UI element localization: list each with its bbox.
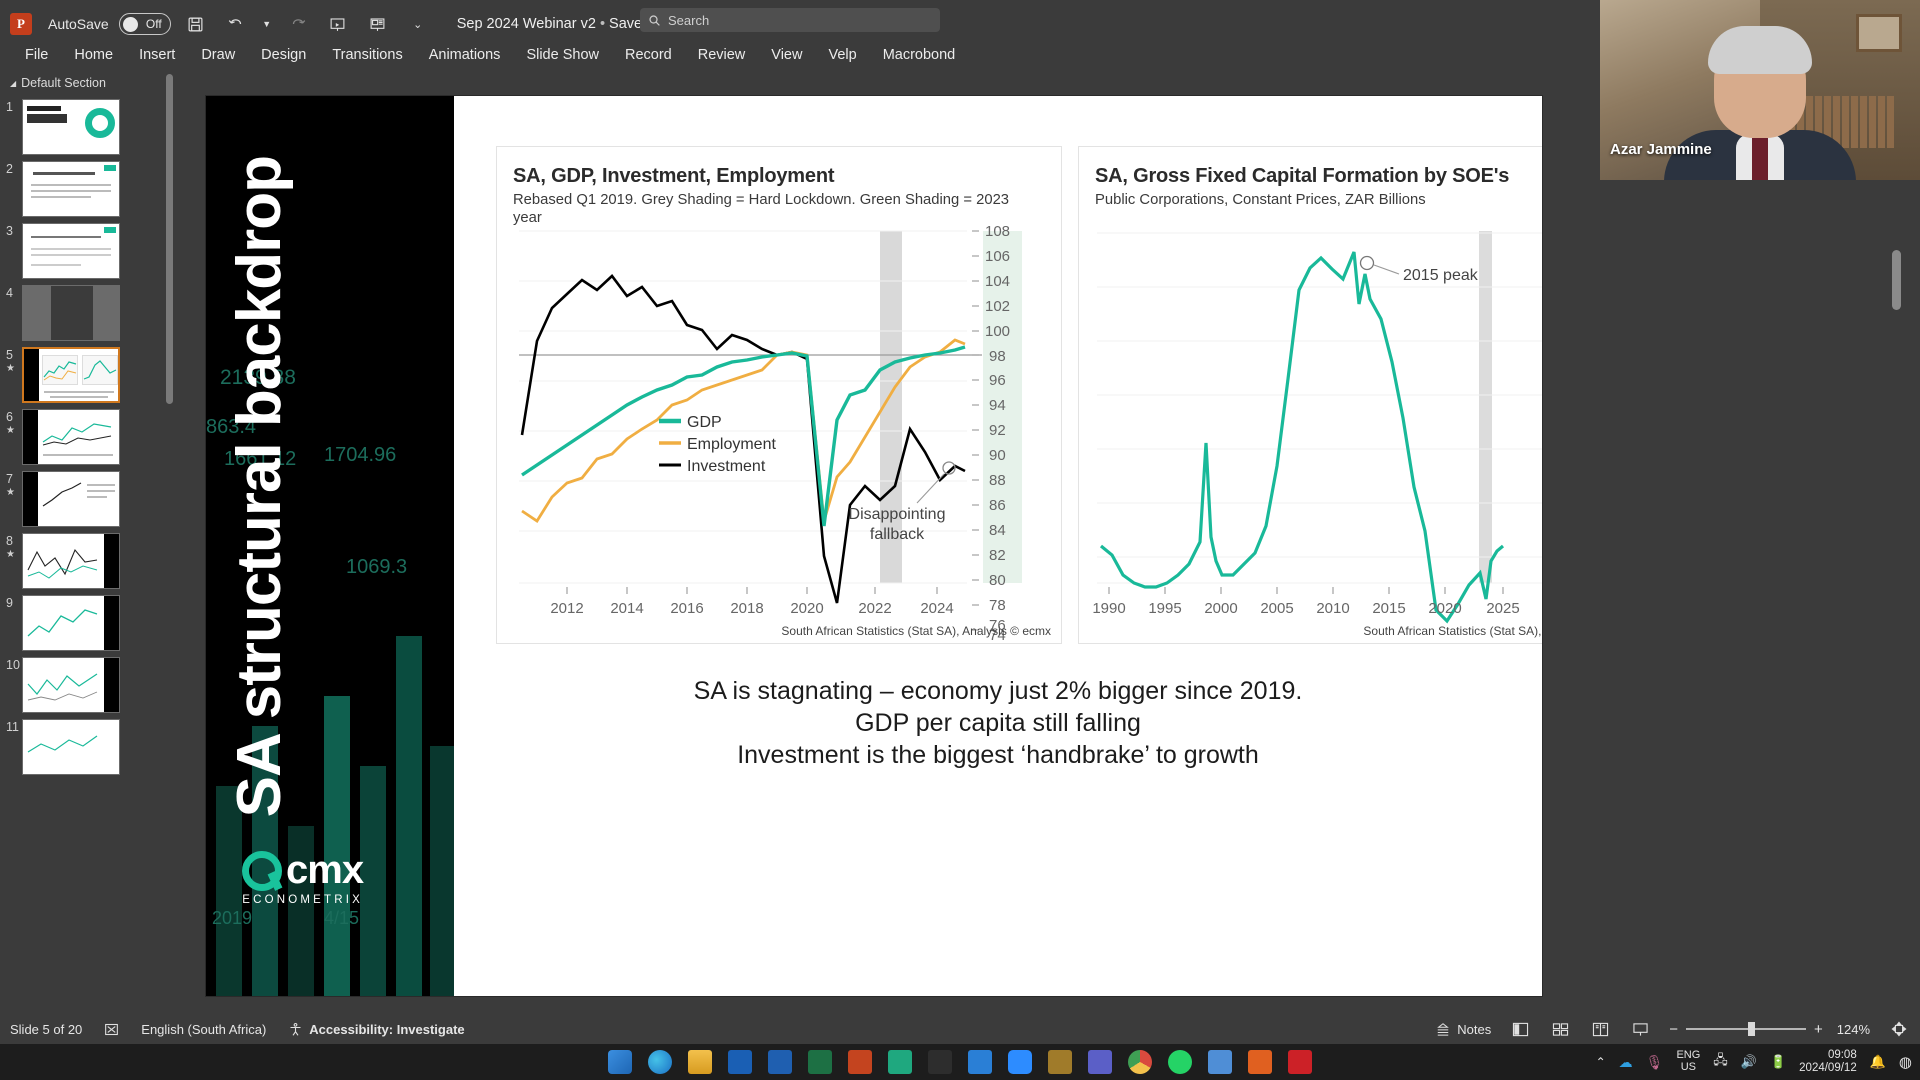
thumbnail-item-11[interactable]: 11 [0,716,176,778]
thumbnail-preview[interactable] [22,99,120,155]
tab-transitions[interactable]: Transitions [319,44,415,66]
tray-locale: US [1681,1061,1696,1073]
x-tick-left: 2014 [610,600,643,617]
zoom-slider-track[interactable] [1686,1028,1806,1030]
thumbnail-preview[interactable] [22,471,120,527]
thumbnail-item-8[interactable]: 8 ★ [0,530,176,592]
thumbnail-item-5[interactable]: 5 ★ [0,344,176,406]
annotation-label-left-line1: Disappointing [849,506,946,523]
decorative-number: 4/15 [324,908,359,929]
decorative-number: 1069.3 [346,556,407,579]
animation-star-icon: ★ [6,363,22,374]
thumbnail-item-6[interactable]: 6 ★ [0,406,176,468]
reading-view-icon[interactable] [1589,1019,1611,1039]
tab-record[interactable]: Record [612,44,685,66]
animation-star-icon: ★ [6,487,22,498]
volume-icon[interactable]: 🔊 [1741,1054,1757,1070]
thumbnail-item-9[interactable]: 9 [0,592,176,654]
slide-counter[interactable]: Slide 5 of 20 [10,1022,82,1037]
notes-button[interactable]: Notes [1435,1022,1491,1037]
outlook-icon[interactable] [728,1050,752,1074]
search-placeholder: Search [668,13,709,28]
chart-plot-left: 108 106 104 102 100 98 96 94 92 90 88 [497,221,1061,643]
presenter-view-icon[interactable] [363,10,393,38]
tray-time: 09:08 [1828,1049,1857,1061]
tradingview-icon[interactable] [968,1050,992,1074]
x-tick-right: 1995 [1148,600,1181,617]
y-tick-left: 96 [989,372,1006,389]
normal-view-icon[interactable] [1509,1019,1531,1039]
language-indicator-tray[interactable]: ENG US [1676,1050,1700,1073]
thumbnail-preview[interactable] [22,285,120,341]
tab-review[interactable]: Review [685,44,759,66]
thumbnail-scrollbar-thumb[interactable] [166,74,173,404]
thumbnail-number: 5 [6,348,13,362]
thumbnail-number: 7 [6,472,13,486]
slide-thumbnail-pane[interactable]: ◢ Default Section 1 2 [0,70,176,1014]
teams-icon[interactable] [1088,1050,1112,1074]
slide-title-band: 2139.88 863.4 1661.12 1704.96 1069.3 201… [206,96,454,996]
thumbnail-number: 3 [6,224,13,238]
thumbnail-number: 8 [6,534,13,548]
taskbar-app-list [608,1050,1312,1074]
tab-draw[interactable]: Draw [188,44,248,66]
thumbnail-item-4[interactable]: 4 [0,282,176,344]
undo-icon[interactable] [221,10,251,38]
chart-panel-right[interactable]: SA, Gross Fixed Capital Formation by SOE… [1078,146,1542,644]
thumbnail-number: 11 [6,720,19,734]
system-tray: ⌃ ☁ 🎙 ENG US 🖧 🔊 🔋 09:08 2024/09/12 🔔 ◍ [1596,1049,1912,1075]
document-title-text: Sep 2024 Webinar v2 [457,16,596,32]
x-tick-left: 2020 [790,600,823,617]
x-tick-left: 2018 [730,600,763,617]
zoom-in-icon[interactable]: + [1814,1021,1823,1038]
search-input[interactable]: Search [640,8,940,32]
zoom-level: 124% [1837,1022,1870,1037]
onenote-icon[interactable] [888,1050,912,1074]
tab-velp[interactable]: Velp [815,44,869,66]
y-tick-left: 80 [989,572,1006,589]
legend-label-employment: Employment [687,436,776,453]
legend-label-investment: Investment [687,458,766,475]
y-tick-left: 86 [989,497,1006,514]
macrobond-icon[interactable] [928,1050,952,1074]
zoom-slider[interactable]: − + 124% [1669,1021,1870,1038]
powerpoint-window: P AutoSave Off ▼ [0,0,1920,1080]
logo-mark-icon [242,851,282,891]
tab-view[interactable]: View [758,44,815,66]
animation-star-icon: ★ [6,425,22,436]
annotation-label-left-line2: fallback [870,526,925,543]
bullet-line-1: SA is stagnating – economy just 2% bigge… [454,676,1542,708]
x-tick-left: 2022 [858,600,891,617]
language-text: English (South Africa) [141,1022,266,1037]
word-icon[interactable] [768,1050,792,1074]
x-tick-right: 2005 [1260,600,1293,617]
chart-title-left: SA, GDP, Investment, Employment [497,147,1061,188]
bullet-line-2: GDP per capita still falling [454,708,1542,740]
chrome-icon[interactable] [1128,1050,1152,1074]
search-icon [648,14,661,27]
accessibility-text: Accessibility: Investigate [309,1022,464,1037]
x-tick-right: 2015 [1372,600,1405,617]
y-tick-left: 102 [985,298,1010,315]
tab-home[interactable]: Home [61,44,126,66]
tab-animations[interactable]: Animations [416,44,514,66]
webcam-overlay[interactable]: Azar Jammine [1600,0,1920,180]
slide-bullets[interactable]: SA is stagnating – economy just 2% bigge… [454,676,1542,771]
thumbnail-item-2[interactable]: 2 [0,158,176,220]
network-icon[interactable]: 🖧 [1713,1051,1728,1073]
participant-tie [1752,138,1768,180]
tray-date: 2024/09/12 [1799,1062,1857,1074]
autosave-toggle-knob [123,17,138,32]
customize-quick-access-icon[interactable]: ⌄ [403,10,433,38]
logo-wordmark: cmx [286,848,363,893]
slide-canvas-area[interactable]: 2139.88 863.4 1661.12 1704.96 1069.3 201… [176,70,1906,1014]
decorative-number: 2019 [212,908,252,929]
thumbnail-preview[interactable] [22,223,120,279]
start-icon[interactable] [608,1050,632,1074]
undo-dropdown-icon[interactable]: ▼ [261,10,273,38]
status-bar: Slide 5 of 20 English (South Africa) Acc… [0,1014,1920,1044]
tab-file[interactable]: File [12,44,61,66]
file-explorer-icon[interactable] [688,1050,712,1074]
participant-name: Azar Jammine [1610,141,1712,158]
y-tick-left: 84 [989,522,1006,539]
slide-band-title: SA structural backdrop [228,156,291,817]
tab-insert[interactable]: Insert [126,44,188,66]
tab-design[interactable]: Design [248,44,319,66]
thumbnail-item-1[interactable]: 1 [0,96,176,158]
bell-icon[interactable]: 🔔 [1870,1054,1886,1070]
microphone-icon[interactable]: 🎙 [1646,1054,1664,1071]
y-tick-left: 94 [989,397,1006,414]
thumbnail-number: 4 [6,286,13,300]
battery-icon[interactable]: 🔋 [1770,1054,1786,1070]
chart-subtitle-right: Public Corporations, Constant Prices, ZA… [1079,188,1542,209]
thumbnail-item-3[interactable]: 3 [0,220,176,282]
slide-counter-text: Slide 5 of 20 [10,1022,82,1037]
x-tick-left: 2016 [670,600,703,617]
thumbnail-preview[interactable] [22,409,120,465]
section-header[interactable]: ◢ Default Section [0,70,176,96]
chart-legend-left: GDP Employment Investment [659,414,776,475]
slide-notes-icon[interactable] [104,1022,119,1037]
notes-icon [1435,1022,1451,1036]
acrobat-icon[interactable] [1288,1050,1312,1074]
onedrive-icon[interactable]: ☁ [1619,1054,1633,1071]
workspace: ◢ Default Section 1 2 [0,70,1920,1014]
autosave-label: AutoSave [48,16,109,32]
tab-macrobond[interactable]: Macrobond [870,44,969,66]
legend-label-gdp: GDP [687,414,722,431]
series-gfcf [1101,252,1503,621]
y-tick-left: 92 [989,422,1006,439]
chart-source-right: South African Statistics (Stat SA), Anal… [1363,624,1542,638]
slide-sorter-icon[interactable] [1549,1019,1571,1039]
language-indicator[interactable]: English (South Africa) [141,1022,266,1037]
thumbnail-number: 2 [6,162,13,176]
autosave-toggle[interactable]: Off [119,13,171,35]
y-tick-left: 108 [985,223,1010,240]
thumbnail-preview[interactable] [22,719,120,775]
slide-area-scrollbar[interactable] [1891,70,1902,1014]
thumbnail-number: 9 [6,596,13,610]
thumbnail-preview[interactable] [22,595,120,651]
thumbnail-scrollbar[interactable] [165,72,174,1012]
powerpoint-icon: P [10,13,32,35]
start-presentation-icon[interactable] [323,10,353,38]
autosave-state: Off [146,17,166,31]
notepad-icon[interactable] [1248,1050,1272,1074]
annotation-marker-right [1361,257,1374,270]
zoom-icon[interactable] [1008,1050,1032,1074]
thumbnail-item-10[interactable]: 10 [0,654,176,716]
status-bar-right: Notes [1435,1019,1910,1039]
y-tick-left: 78 [989,597,1006,614]
x-tick-right: 2020 [1428,600,1461,617]
picture-frame [1856,14,1902,52]
x-tick-right: 1990 [1092,600,1125,617]
y-tick-left: 106 [985,248,1010,265]
slide-canvas[interactable]: 2139.88 863.4 1661.12 1704.96 1069.3 201… [206,96,1542,996]
accessibility-status[interactable]: Accessibility: Investigate [288,1022,464,1037]
thumbnail-item-7[interactable]: 7 ★ [0,468,176,530]
x-tick-left: 2012 [550,600,583,617]
fit-slide-icon[interactable] [1888,1019,1910,1039]
tab-slide-show[interactable]: Slide Show [513,44,612,66]
y-tick-left: 88 [989,472,1006,489]
thumbnail-preview[interactable] [22,533,120,589]
y-tick-left: 104 [985,273,1010,290]
clock[interactable]: 09:08 2024/09/12 [1799,1049,1857,1075]
x-tick-right: 2025 [1486,600,1519,617]
y-tick-left: 90 [989,447,1006,464]
copilot-icon[interactable]: ◍ [1899,1053,1912,1071]
whatsapp-icon[interactable] [1168,1050,1192,1074]
tray-language: ENG [1676,1049,1700,1061]
thumbnail-preview[interactable] [22,657,120,713]
y-tick-left: 98 [989,348,1006,365]
x-tick-left: 2024 [920,600,953,617]
ecmx-logo: cmx ECONOMETRIX [242,848,363,906]
thumbnail-preview-selected[interactable] [22,347,120,403]
chart-app-icon[interactable] [1048,1050,1072,1074]
x-tick-right: 2000 [1204,600,1237,617]
y-tick-left: 82 [989,547,1006,564]
slide-area-scrollbar-thumb[interactable] [1892,250,1901,310]
chart-source-left: South African Statistics (Stat SA), Anal… [781,624,1051,638]
chart-title-right: SA, Gross Fixed Capital Formation by SOE… [1079,147,1542,188]
animation-star-icon: ★ [6,549,22,560]
bullet-line-3: Investment is the biggest ‘handbrake’ to… [454,740,1542,772]
section-label: Default Section [21,76,106,90]
powerpoint-icon[interactable] [848,1050,872,1074]
accessibility-icon [288,1022,303,1037]
thumbnail-preview[interactable] [22,161,120,217]
slide-show-icon[interactable] [1629,1019,1651,1039]
zoom-slider-knob[interactable] [1748,1022,1755,1036]
x-tick-right: 2010 [1316,600,1349,617]
excel-icon[interactable] [808,1050,832,1074]
save-icon[interactable] [181,10,211,38]
zoom-out-icon[interactable]: − [1669,1021,1678,1038]
chevron-up-icon[interactable]: ⌃ [1596,1055,1606,1069]
participant-hair [1708,26,1812,74]
triangle-down-icon[interactable]: ◢ [10,79,16,88]
thumbnail-number: 6 [6,410,13,424]
chart-plot-right: 150 140 130 120 110 100 90 80 70 60 50 [1079,221,1542,643]
shading-hard-lockdown-right [1479,231,1492,583]
gallery-icon[interactable] [1208,1050,1232,1074]
chart-panel-left[interactable]: SA, GDP, Investment, Employment Rebased … [496,146,1062,644]
annotation-label-right: 2015 peak [1403,267,1479,284]
notes-label: Notes [1457,1022,1491,1037]
decorative-number: 1704.96 [324,444,396,467]
windows-taskbar: ⌃ ☁ 🎙 ENG US 🖧 🔊 🔋 09:08 2024/09/12 🔔 ◍ [0,1044,1920,1080]
thumbnail-number: 10 [6,658,20,672]
thumbnail-number: 1 [6,100,13,114]
logo-subtitle: ECONOMETRIX [242,894,363,906]
edge-icon[interactable] [648,1050,672,1074]
y-tick-left: 100 [985,323,1010,340]
redo-icon[interactable] [283,10,313,38]
